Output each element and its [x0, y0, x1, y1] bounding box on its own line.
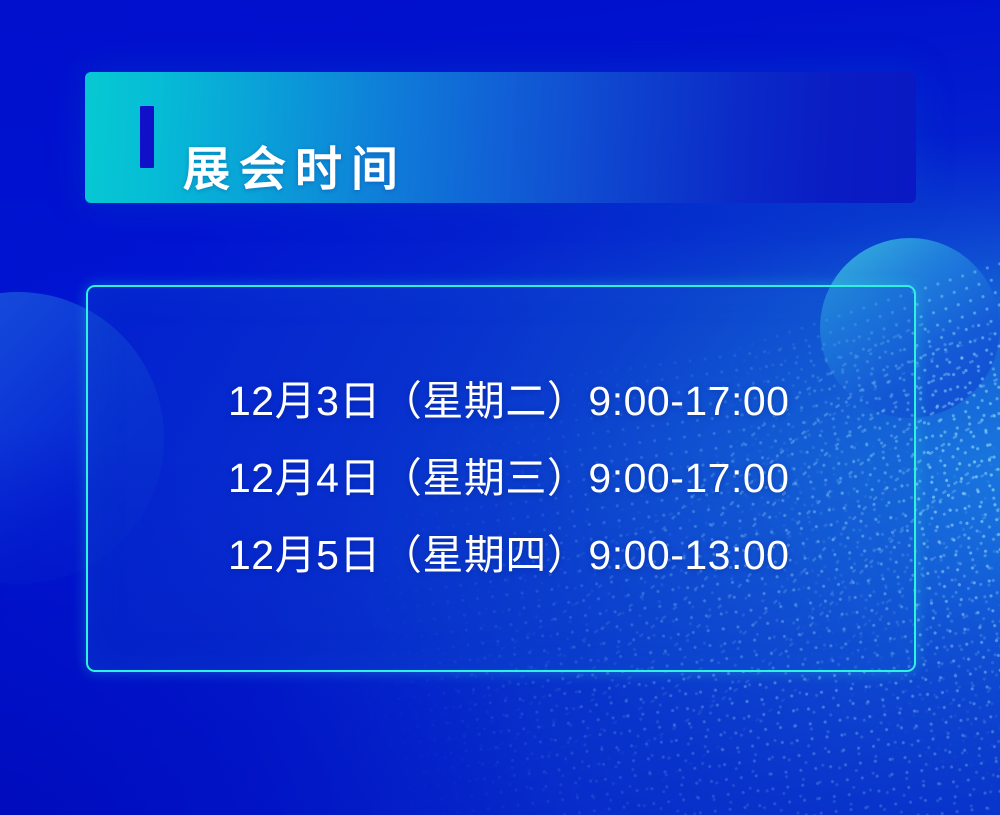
schedule-item-3: 12月5日（星期四）9:00-13:00 [228, 535, 789, 576]
schedule-card: 12月3日（星期二）9:00-17:00 12月4日（星期三）9:00-17:0… [86, 285, 916, 672]
section-header-banner: 展会时间 [85, 72, 916, 203]
schedule-text-2: 12月4日（星期三）9:00-17:00 [228, 455, 789, 501]
schedule-text-3: 12月5日（星期四）9:00-13:00 [228, 532, 789, 578]
poster-canvas: 展会时间 12月3日（星期二）9:00-17:00 12月4日（星期三）9:00… [0, 0, 1000, 815]
schedule-item-2: 12月4日（星期三）9:00-17:00 [228, 458, 789, 499]
schedule-item-1: 12月3日（星期二）9:00-17:00 [228, 381, 789, 422]
page-title: 展会时间 [183, 145, 407, 192]
schedule-list: 12月3日（星期二）9:00-17:00 12月4日（星期三）9:00-17:0… [228, 287, 789, 670]
schedule-text-1: 12月3日（星期二）9:00-17:00 [228, 378, 789, 424]
accent-bar-icon [140, 106, 154, 168]
